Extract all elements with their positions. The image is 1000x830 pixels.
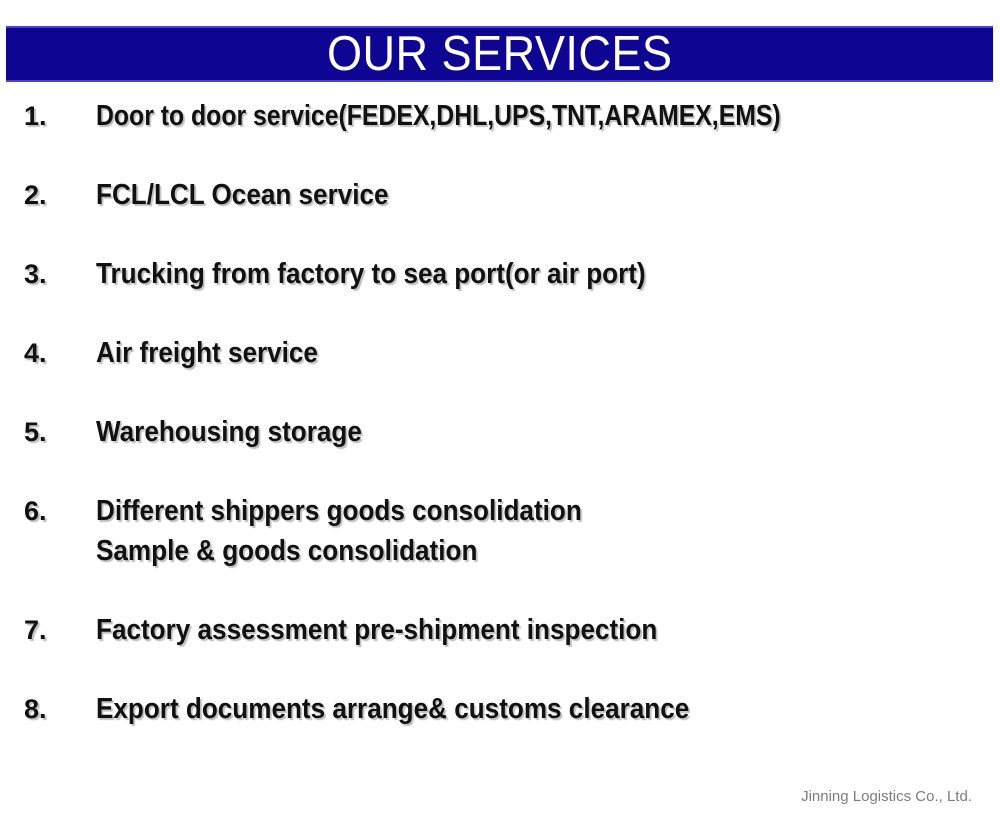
footer-company-name: Jinning Logistics Co., Ltd. (801, 788, 972, 805)
service-number: 7. (24, 610, 84, 650)
service-number: 4. (24, 333, 84, 373)
service-item-5: 5.Warehousing storage (0, 412, 1000, 491)
page-title: OUR SERVICES (327, 30, 672, 79)
service-number: 1. (24, 96, 84, 136)
service-text-line: Warehousing storage (96, 412, 902, 452)
service-text-line: Air freight service (96, 333, 902, 373)
service-item-7: 7.Factory assessment pre-shipment inspec… (0, 610, 1000, 689)
service-number: 5. (24, 412, 84, 452)
service-number: 6. (24, 491, 84, 531)
service-text-line: Trucking from factory to sea port(or air… (96, 254, 902, 294)
service-item-2: 2.FCL/LCL Ocean service (0, 175, 1000, 254)
service-text-block: Warehousing storage (96, 412, 1000, 452)
service-text-line: Door to door service(FEDEX,DHL,UPS,TNT,A… (96, 96, 862, 136)
service-text-line: Factory assessment pre-shipment inspecti… (96, 610, 902, 650)
service-text-block: Door to door service(FEDEX,DHL,UPS,TNT,A… (96, 96, 1000, 136)
service-text-block: FCL/LCL Ocean service (96, 175, 1000, 215)
service-item-3: 3.Trucking from factory to sea port(or a… (0, 254, 1000, 333)
service-number: 2. (24, 175, 84, 215)
service-item-1: 1.Door to door service(FEDEX,DHL,UPS,TNT… (0, 96, 1000, 175)
service-text-block: Trucking from factory to sea port(or air… (96, 254, 1000, 294)
service-text-line: Export documents arrange& customs cleara… (96, 689, 902, 729)
service-item-6: 6.Different shippers goods consolidation… (0, 491, 1000, 610)
service-text-block: Factory assessment pre-shipment inspecti… (96, 610, 1000, 650)
service-text-block: Export documents arrange& customs cleara… (96, 689, 1000, 729)
service-number: 3. (24, 254, 84, 294)
slide-canvas: OUR SERVICES 1.Door to door service(FEDE… (0, 0, 1000, 830)
title-banner: OUR SERVICES (6, 26, 993, 82)
service-text-line: Different shippers goods consolidation (96, 491, 902, 531)
service-text-line: Sample & goods consolidation (96, 531, 902, 571)
service-item-8: 8.Export documents arrange& customs clea… (0, 689, 1000, 768)
service-text-line: FCL/LCL Ocean service (96, 175, 902, 215)
service-text-block: Different shippers goods consolidationSa… (96, 491, 1000, 571)
service-text-block: Air freight service (96, 333, 1000, 373)
service-number: 8. (24, 689, 84, 729)
services-list: 1.Door to door service(FEDEX,DHL,UPS,TNT… (0, 96, 1000, 768)
service-item-4: 4.Air freight service (0, 333, 1000, 412)
